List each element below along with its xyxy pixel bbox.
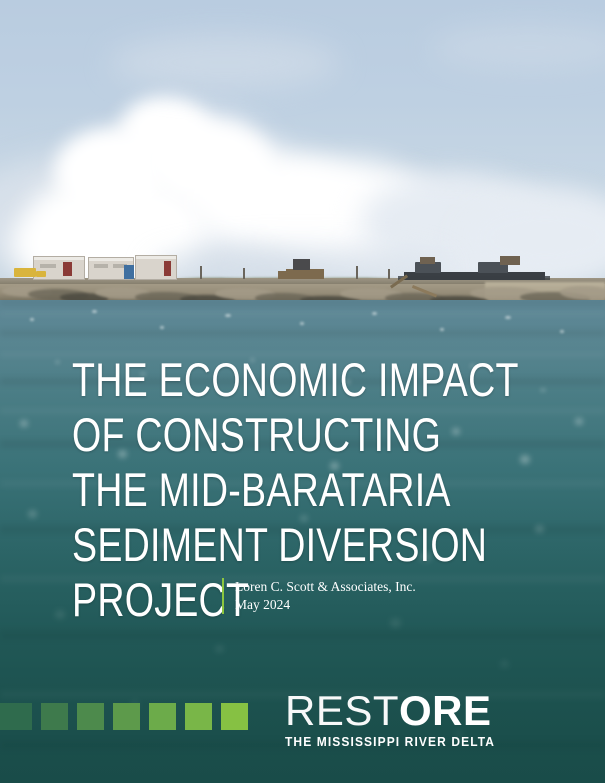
author-block: Loren C. Scott & Associates, Inc. May 20…: [222, 578, 416, 614]
author-organization: Loren C. Scott & Associates, Inc.: [235, 578, 416, 596]
logo-tagline: THE MISSISSIPPI RIVER DELTA: [285, 735, 495, 749]
portable-toilet: [124, 265, 134, 279]
logo-wordmark: RESTORE: [285, 691, 504, 731]
accent-square: [0, 703, 32, 730]
barge: [398, 276, 550, 280]
accent-square: [221, 703, 248, 730]
accent-square: [185, 703, 212, 730]
publication-date: May 2024: [235, 596, 416, 614]
title-line: THE MID-BARATARIA: [72, 462, 424, 517]
yellow-equipment: [14, 268, 36, 277]
logo-word-light: REST: [285, 687, 399, 734]
title-line: SEDIMENT DIVERSION: [72, 517, 424, 572]
title-line: THE ECONOMIC IMPACT: [72, 352, 424, 407]
report-cover: THE ECONOMIC IMPACT OF CONSTRUCTING THE …: [0, 0, 605, 783]
yellow-equipment: [36, 271, 46, 277]
construction-trailer: [135, 255, 177, 280]
title-line: OF CONSTRUCTING: [72, 407, 424, 462]
accent-square: [149, 703, 176, 730]
accent-square: [113, 703, 140, 730]
logo-word-bold: ORE: [399, 687, 492, 734]
accent-square: [77, 703, 104, 730]
accent-square: [41, 703, 68, 730]
restore-logo: RESTORE THE MISSISSIPPI RIVER DELTA: [285, 691, 504, 749]
